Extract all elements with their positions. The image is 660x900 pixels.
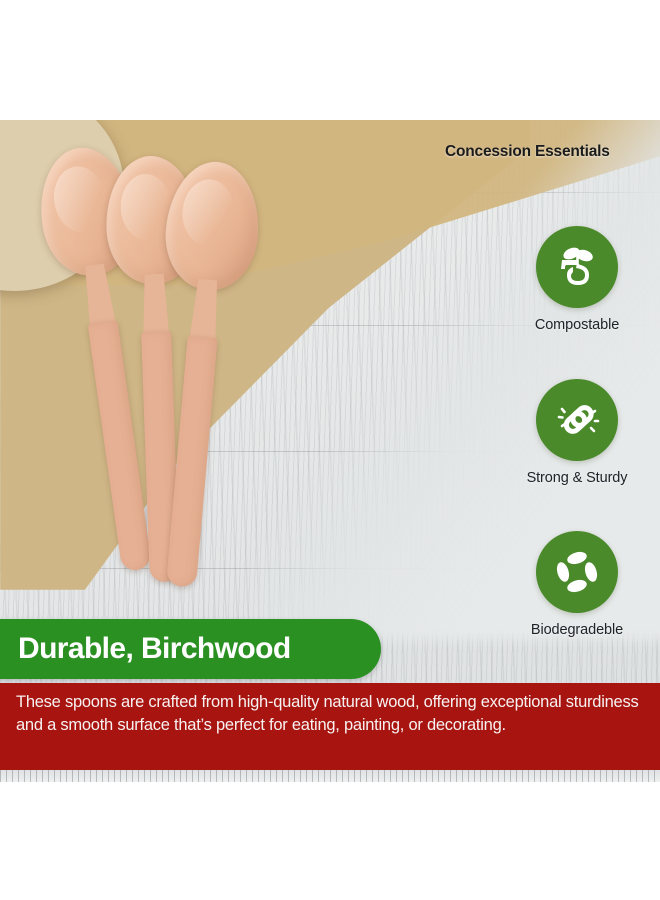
feature-label: Biodegradeble [497,622,657,638]
feature-badge-compostable: Compostable [497,226,657,333]
feature-label: Strong & Sturdy [497,470,657,486]
recycle-leaves-icon [536,531,618,613]
page-title: Concession Essentials [445,143,610,161]
chain-link-icon [536,379,618,461]
headline-banner: Durable, Birchwood [0,619,381,679]
description-text: These spoons are crafted from high-quali… [16,691,646,738]
marketing-banner: Concession Essentials Compostable [0,0,660,900]
headline-text: Durable, Birchwood [18,632,291,666]
feature-badge-biodegradeble: Biodegradeble [497,531,657,638]
feature-label: Compostable [497,317,657,333]
feature-badge-strong-sturdy: Strong & Sturdy [497,379,657,486]
sprout-icon [536,226,618,308]
bottom-wood-strip [0,770,660,782]
description-block: These spoons are crafted from high-quali… [0,683,660,770]
product-photo: Concession Essentials Compostable [0,120,660,782]
